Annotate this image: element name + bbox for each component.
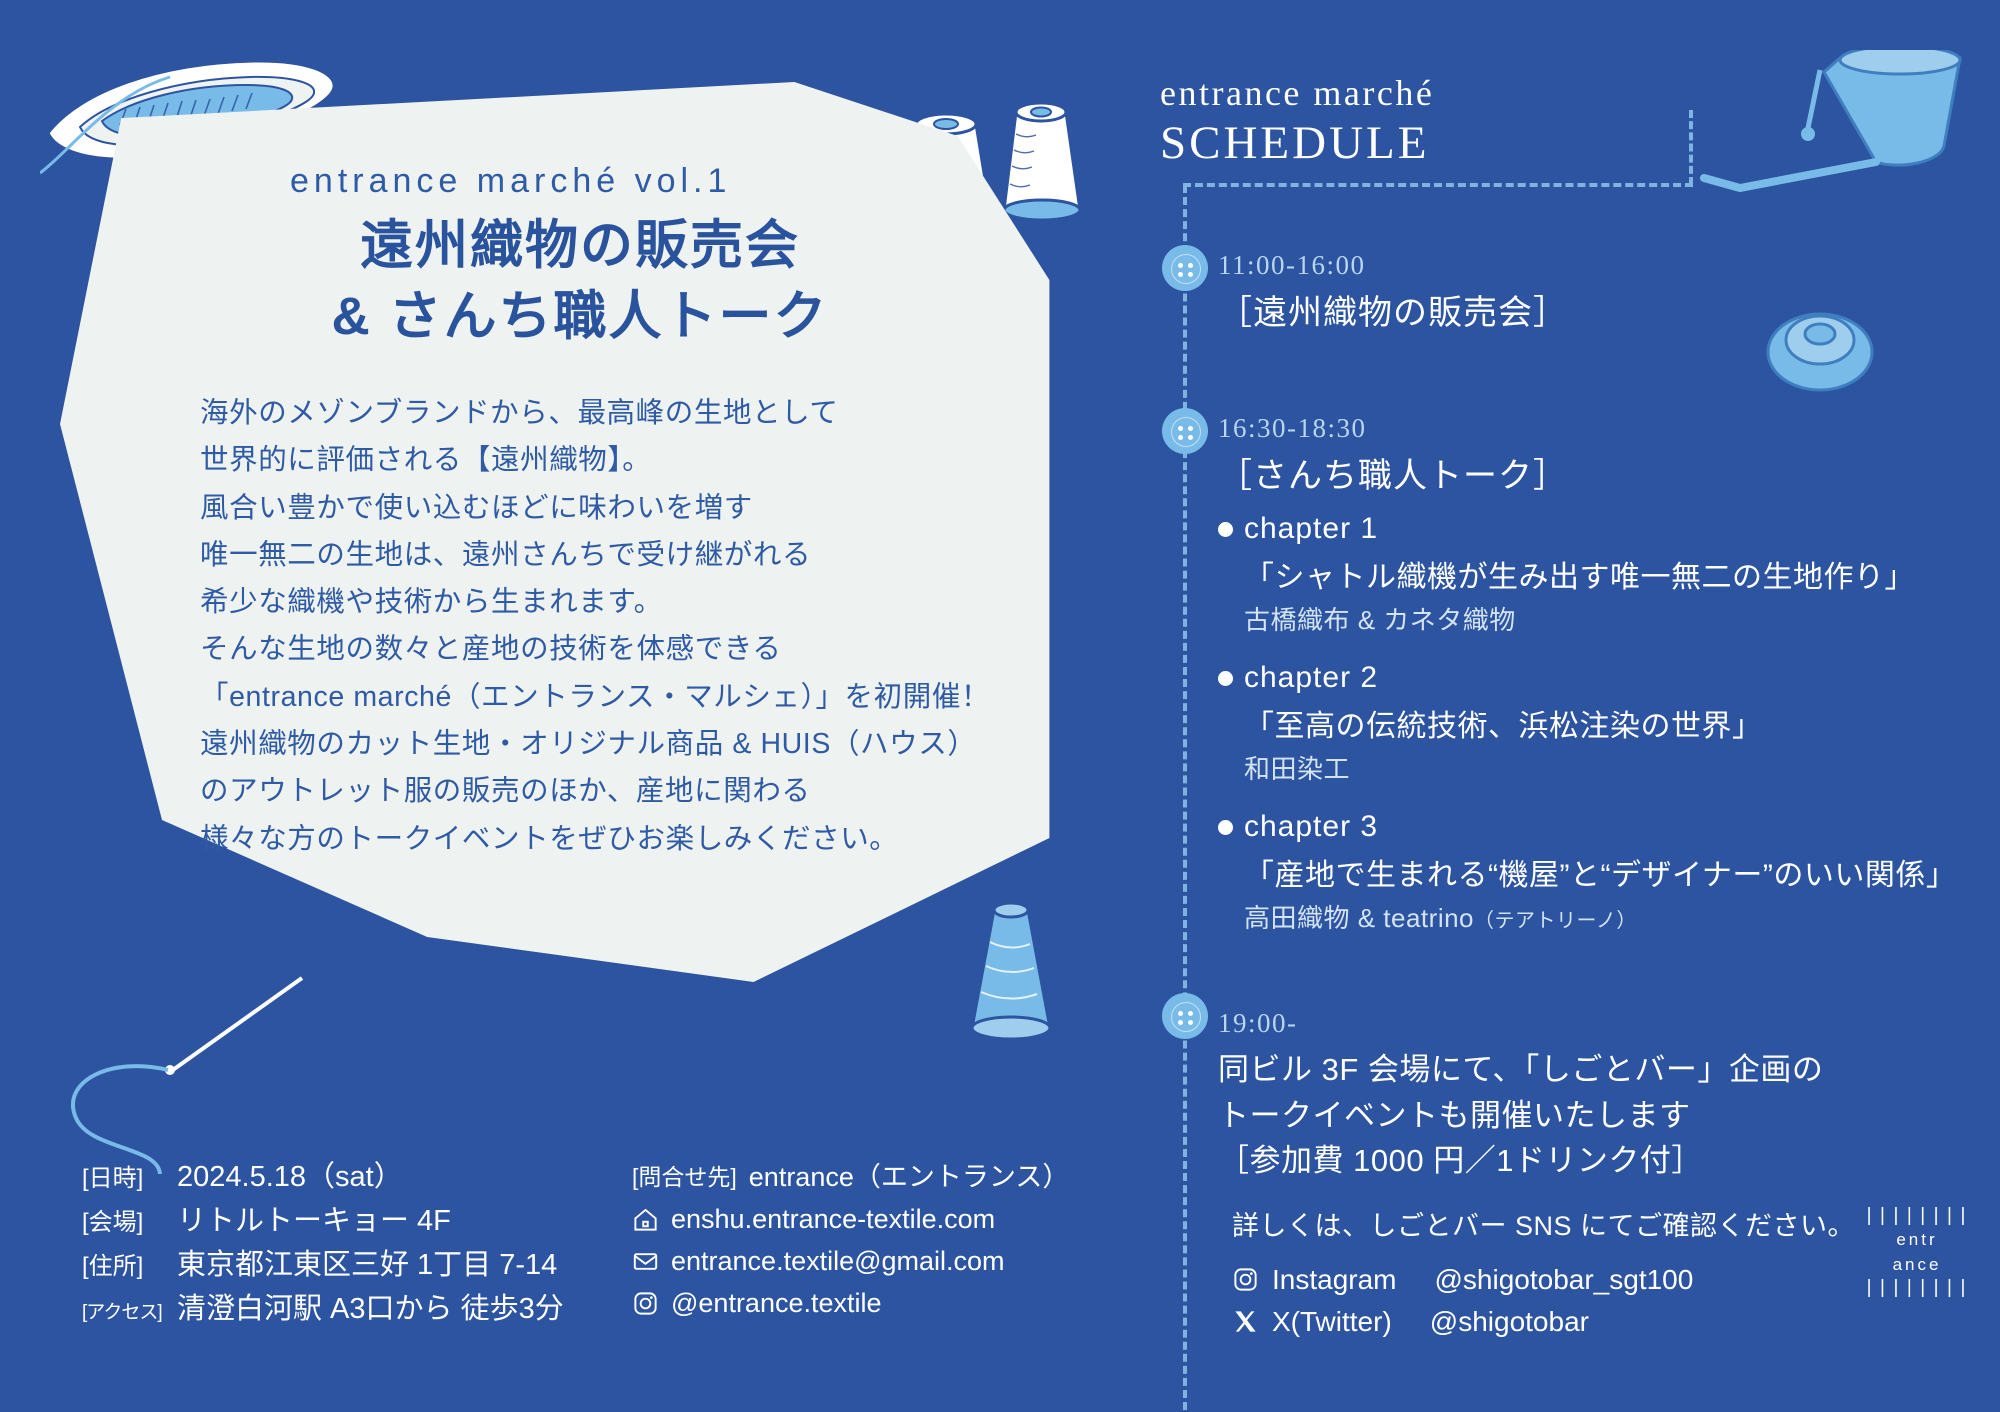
chapter-title: 「シャトル織機が生み出す唯一無二の生地作り」 [1244, 552, 1956, 596]
desc-line: そんな生地の数々と産地の技術を体感できる [200, 626, 1030, 673]
x-twitter-icon [1232, 1308, 1259, 1335]
chapter-item: chapter 1 「シャトル織機が生み出す唯一無二の生地作り」 古橋織布 & … [1218, 512, 1956, 637]
schedule-heading: entrance marché SCHEDULE [1160, 72, 1434, 170]
desc-line: 唯一無二の生地は、遠州さんちで受け継がれる [200, 532, 1030, 579]
chapter-speaker-names: 和田染工 [1244, 754, 1350, 784]
contact-org-row: [問合せ先] entrance（エントランス） [632, 1157, 1069, 1199]
schedule-slot-3: 19:00- 同ビル 3F 会場にて、「しごとバー」企画の トークイベントも開催… [1218, 1008, 1855, 1343]
timeline-button-marker [1162, 245, 1208, 291]
event-series-label: entrance marché vol.1 [290, 162, 731, 201]
sns-row-instagram[interactable]: Instagram @shigotobar_sgt100 [1232, 1259, 1855, 1301]
sns-row-x[interactable]: X(Twitter) @shigotobar [1232, 1301, 1855, 1343]
bullet-icon [1218, 671, 1233, 686]
detail-value: 2024.5.18（sat） [177, 1161, 403, 1193]
detail-value: 東京都江東区三好 1丁目 7-14 [177, 1249, 557, 1281]
evening-line: トークイベントも開催いたします [1218, 1093, 1855, 1139]
detail-row-access: [アクセス]清澄白河駅 A3口から 徒歩3分 [82, 1287, 564, 1331]
sns-handle: @shigotobar_sgt100 [1435, 1259, 1694, 1301]
evening-description: 同ビル 3F 会場にて、「しごとバー」企画の トークイベントも開催いたします ［… [1218, 1047, 1855, 1184]
chapter-item: chapter 3 「産地で生まれる“機屋”と“デザイナー”のいい関係」 高田織… [1218, 810, 1956, 935]
timeline-dashed-line [1183, 185, 1187, 1410]
sns-platform: X(Twitter) [1272, 1301, 1392, 1343]
desc-line: 海外のメゾンブランドから、最高峰の生地として [200, 390, 1030, 437]
detail-tag: [日時] [82, 1161, 177, 1197]
bullet-icon [1218, 820, 1233, 835]
chapter-speaker-note: （テアトリーノ） [1474, 910, 1637, 932]
chapter-label: chapter 2 [1244, 661, 1378, 695]
timeline-dashed-connector [1689, 110, 1693, 185]
sns-handle: @shigotobar [1430, 1301, 1589, 1343]
slot-time: 19:00- [1218, 1008, 1855, 1039]
detail-row-address: [住所]東京都江東区三好 1丁目 7-14 [82, 1243, 564, 1287]
timeline-button-marker [1162, 408, 1208, 454]
chapter-title: 「至高の伝統技術、浜松注染の世界」 [1244, 701, 1956, 745]
evening-line: ［参加費 1000 円／1ドリンク付］ [1218, 1138, 1855, 1184]
contact-value: @entrance.textile [671, 1283, 882, 1325]
slot-time: 11:00-16:00 [1218, 250, 1568, 281]
chapter-list: chapter 1 「シャトル織機が生み出す唯一無二の生地作り」 古橋織布 & … [1218, 512, 1956, 959]
contact-row-email[interactable]: entrance.textile@gmail.com [632, 1241, 1069, 1283]
detail-value: 清澄白河駅 A3口から 徒歩3分 [177, 1293, 564, 1325]
detail-row-venue: [会場]リトルトーキョー 4F [82, 1199, 564, 1243]
schedule-heading-line-2: SCHEDULE [1160, 116, 1434, 170]
logo-word-line-2: ance [1862, 1255, 1972, 1275]
contact-org: entrance（エントランス） [749, 1157, 1070, 1199]
chapter-header: chapter 3 [1218, 810, 1956, 844]
evening-line: 同ビル 3F 会場にて、「しごとバー」企画の [1218, 1047, 1855, 1093]
chapter-speakers: 和田染工 [1244, 749, 1956, 786]
desc-line: 風合い豊かで使い込むほどに味わいを増す [200, 485, 1030, 532]
instagram-icon [632, 1290, 659, 1317]
schedule-heading-line-1: entrance marché [1160, 72, 1434, 114]
contact-row-instagram[interactable]: @entrance.textile [632, 1283, 1069, 1325]
desc-line: 様々な方のトークイベントをぜひお楽しみください。 [200, 816, 1030, 863]
chapter-label: chapter 1 [1244, 512, 1378, 546]
yarn-cone-icon [950, 890, 1070, 1040]
chapter-speaker-names: 高田織物 & teatrino [1244, 903, 1474, 933]
schedule-slot-1: 11:00-16:00 ［遠州織物の販売会］ [1218, 250, 1568, 334]
logo-bottom-bars: |||||||| [1862, 1280, 1972, 1297]
needle-and-thread-icon [50, 960, 310, 1180]
chapter-label: chapter 3 [1244, 810, 1378, 844]
title-line-2: & さんち職人トーク [300, 281, 860, 352]
event-description: 海外のメゾンブランドから、最高峰の生地として 世界的に評価される【遠州織物】。 … [200, 390, 1030, 863]
contact-value: entrance.textile@gmail.com [671, 1241, 1005, 1283]
detail-row-date: [日時]2024.5.18（sat） [82, 1155, 564, 1199]
desc-line: のアウトレット服の販売のほか、産地に関わる [200, 768, 1030, 815]
desc-line: 「entrance marché（エントランス・マルシェ）」を初開催！ [200, 674, 1030, 721]
timeline-button-marker [1162, 993, 1208, 1039]
contact-row-website[interactable]: enshu.entrance-textile.com [632, 1199, 1069, 1241]
poster-canvas: entrance marché vol.1 遠州織物の販売会 & さんち職人トー… [0, 0, 2000, 1412]
evening-note: 詳しくは、しごとバー SNS にてご確認ください。 [1232, 1204, 1855, 1243]
detail-value: リトルトーキョー 4F [177, 1205, 451, 1237]
sns-platform: Instagram [1272, 1259, 1397, 1301]
detail-tag: [アクセス] [82, 1299, 177, 1328]
chapter-header: chapter 2 [1218, 661, 1956, 695]
venue-details: [日時]2024.5.18（sat） [会場]リトルトーキョー 4F [住所]東… [82, 1155, 564, 1331]
bobbin-icon [1760, 290, 1880, 400]
logo-top-bars: |||||||| [1862, 1208, 1972, 1225]
desc-line: 遠州織物のカット生地・オリジナル商品 & HUIS（ハウス） [200, 721, 1030, 768]
chapter-header: chapter 1 [1218, 512, 1956, 546]
entrance-logo: |||||||| entr ance |||||||| [1862, 1208, 1972, 1297]
instagram-icon [1232, 1266, 1259, 1293]
chapter-speakers: 高田織物 & teatrino（テアトリーノ） [1244, 898, 1956, 935]
desc-line: 世界的に評価される【遠州織物】。 [200, 437, 1030, 484]
slot-title: ［さんち職人トーク］ [1218, 448, 1568, 497]
contact-label: [問合せ先] [632, 1160, 737, 1196]
timeline-dashed-top [1183, 183, 1693, 187]
mail-icon [632, 1248, 659, 1275]
chapter-speakers: 古橋織布 & カネタ織物 [1244, 600, 1956, 637]
slot-title: ［遠州織物の販売会］ [1218, 285, 1568, 334]
detail-tag: [会場] [82, 1205, 177, 1241]
slot-time: 16:30-18:30 [1218, 413, 1568, 444]
logo-word-line-1: entr [1862, 1230, 1972, 1250]
home-icon [632, 1206, 659, 1233]
evening-sns-list: Instagram @shigotobar_sgt100 X(Twitter) … [1232, 1259, 1855, 1343]
contact-value: enshu.entrance-textile.com [671, 1199, 995, 1241]
chapter-item: chapter 2 「至高の伝統技術、浜松注染の世界」 和田染工 [1218, 661, 1956, 786]
chapter-title: 「産地で生まれる“機屋”と“デザイナー”のいい関係」 [1244, 850, 1956, 894]
desc-line: 希少な織機や技術から生まれます。 [200, 579, 1030, 626]
chapter-speaker-names: 古橋織布 & カネタ織物 [1244, 605, 1516, 635]
page-title: 遠州織物の販売会 & さんち職人トーク [300, 210, 860, 352]
dye-vat-icon [1700, 50, 1990, 200]
detail-tag: [住所] [82, 1249, 177, 1285]
contact-block: [問合せ先] entrance（エントランス） enshu.entrance-t… [632, 1157, 1069, 1324]
bullet-icon [1218, 522, 1233, 537]
schedule-slot-2: 16:30-18:30 ［さんち職人トーク］ [1218, 413, 1568, 497]
title-line-1: 遠州織物の販売会 [300, 210, 860, 281]
